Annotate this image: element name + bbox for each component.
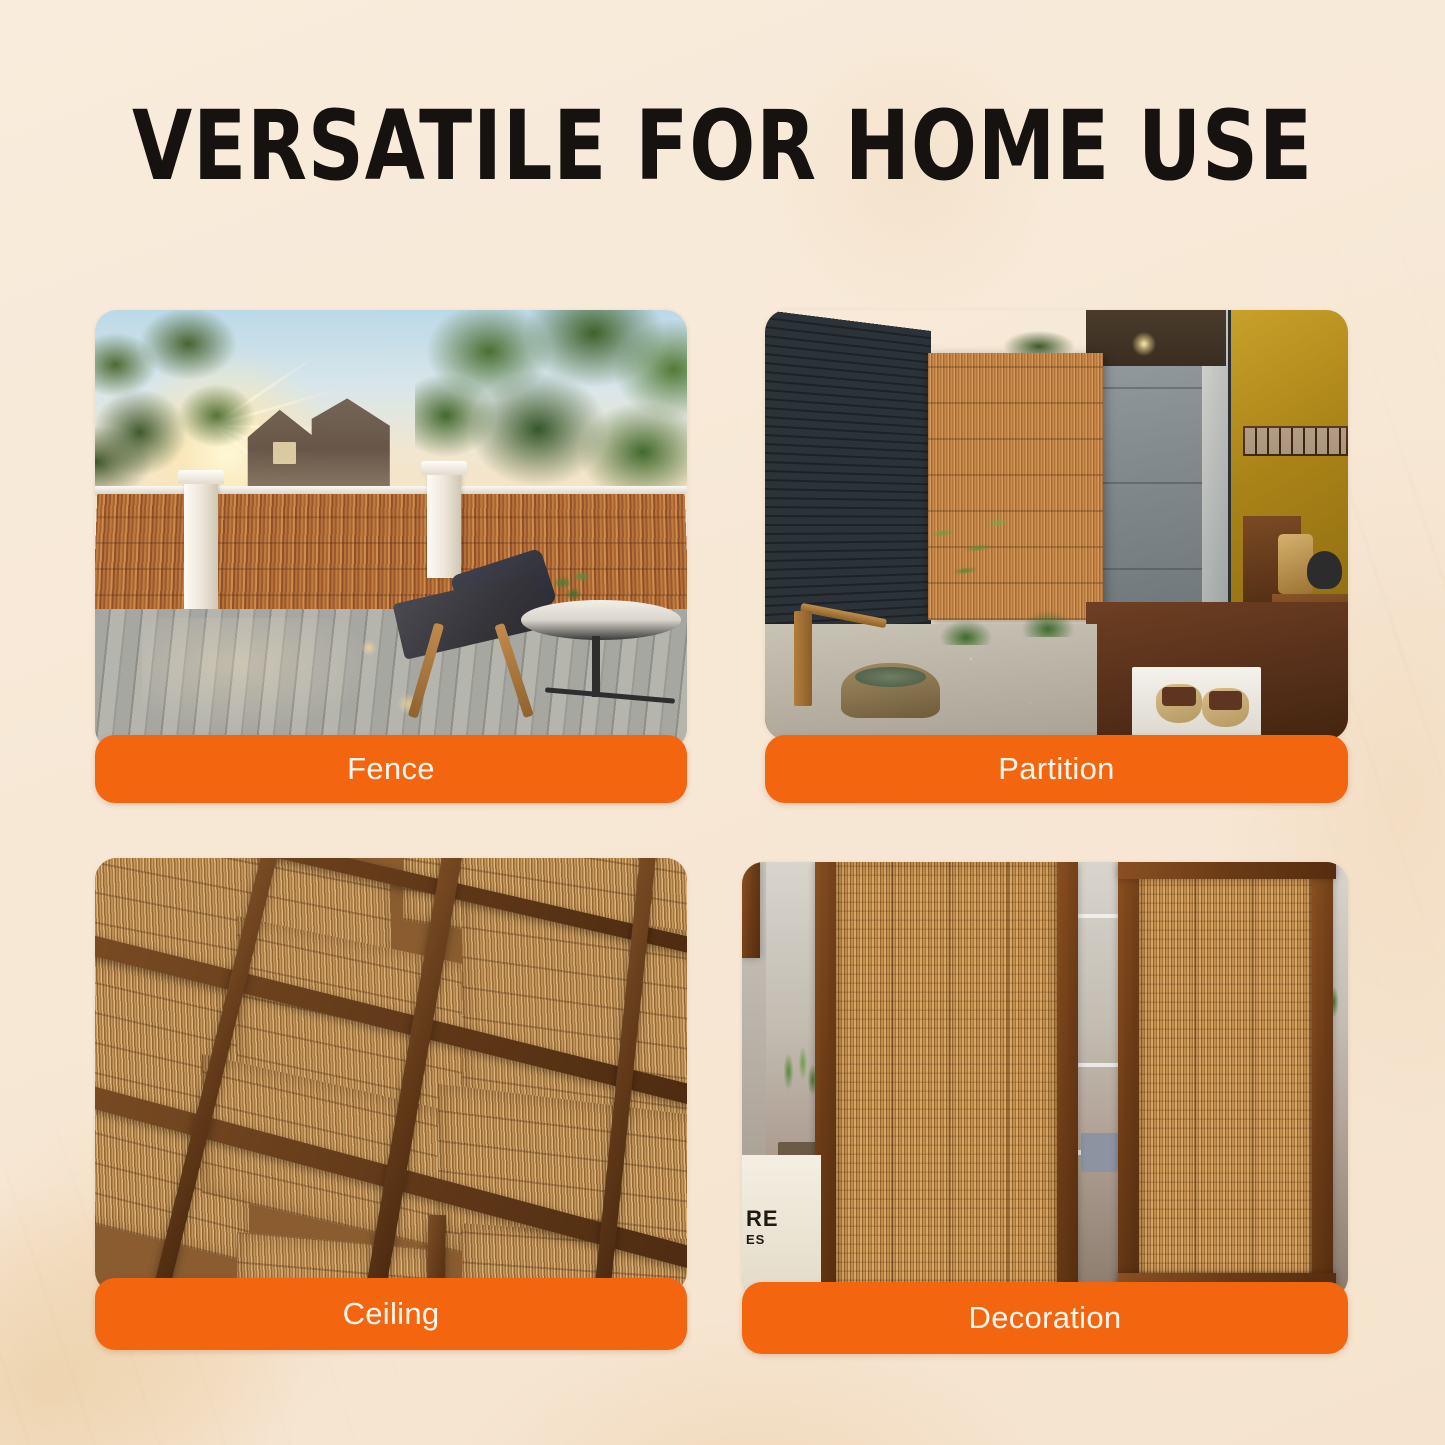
side-table-stem [592,636,600,698]
reed-blind-screen [833,862,1063,1299]
wooden-frame-post [742,862,760,958]
wall-tile-seam [1097,387,1202,389]
moss-patch [940,620,992,646]
usecase-card-ceiling[interactable] [95,858,687,1293]
wall-tile-seam [1097,568,1202,570]
usecase-label-text: Ceiling [343,1296,440,1332]
bamboo-spout-post [794,611,811,706]
usecase-card-decoration[interactable]: RE ES [742,862,1348,1299]
shop-sign: RE ES [742,1155,821,1299]
page-title: VERSATILE FOR HOME USE [72,98,1373,194]
usecase-label-ceiling[interactable]: Ceiling [95,1278,687,1350]
usecase-card-fence[interactable] [95,310,687,750]
usecase-label-partition[interactable]: Partition [765,735,1348,803]
usecase-label-text: Decoration [969,1300,1122,1336]
decoration-photo: RE ES [742,862,1348,1299]
wall-tile-seam [1097,482,1202,484]
reed-blind-screen [1136,871,1318,1282]
wooden-frame-header [1118,862,1336,879]
iron-kettle [1307,551,1342,590]
usecase-label-decoration[interactable]: Decoration [742,1282,1348,1354]
fence-post [427,473,461,579]
slipper [1202,688,1249,727]
usecase-label-text: Partition [998,751,1114,787]
overhang-ceiling [1086,310,1226,366]
fence-post [184,482,218,623]
display-shelf [1243,426,1348,456]
slipper [1156,684,1203,723]
balcony-furniture [1081,1133,1117,1172]
usecase-label-fence[interactable]: Fence [95,735,687,803]
partition-photo [765,310,1348,740]
fence-photo [95,310,687,750]
wooden-frame-post [1057,862,1078,1299]
wooden-frame-post [1312,862,1333,1299]
shop-sign-line2: ES [746,1232,821,1247]
balcony-rail [1075,914,1123,918]
stone-water-basin [841,663,940,719]
side-table-top [521,600,681,640]
moss-patch [1022,611,1074,637]
house-window [273,442,297,464]
open-view-gap [1075,862,1123,1299]
usecase-card-partition[interactable] [765,310,1348,740]
deck-sunlight [142,618,379,732]
ceiling-light-icon [1132,332,1156,356]
balcony-rail [1075,1063,1123,1067]
usecase-label-text: Fence [347,751,435,787]
maple-branch [905,492,1044,602]
shop-sign-line1: RE [746,1206,821,1232]
wooden-frame-post [1118,862,1139,1299]
ceiling-photo [95,858,687,1293]
